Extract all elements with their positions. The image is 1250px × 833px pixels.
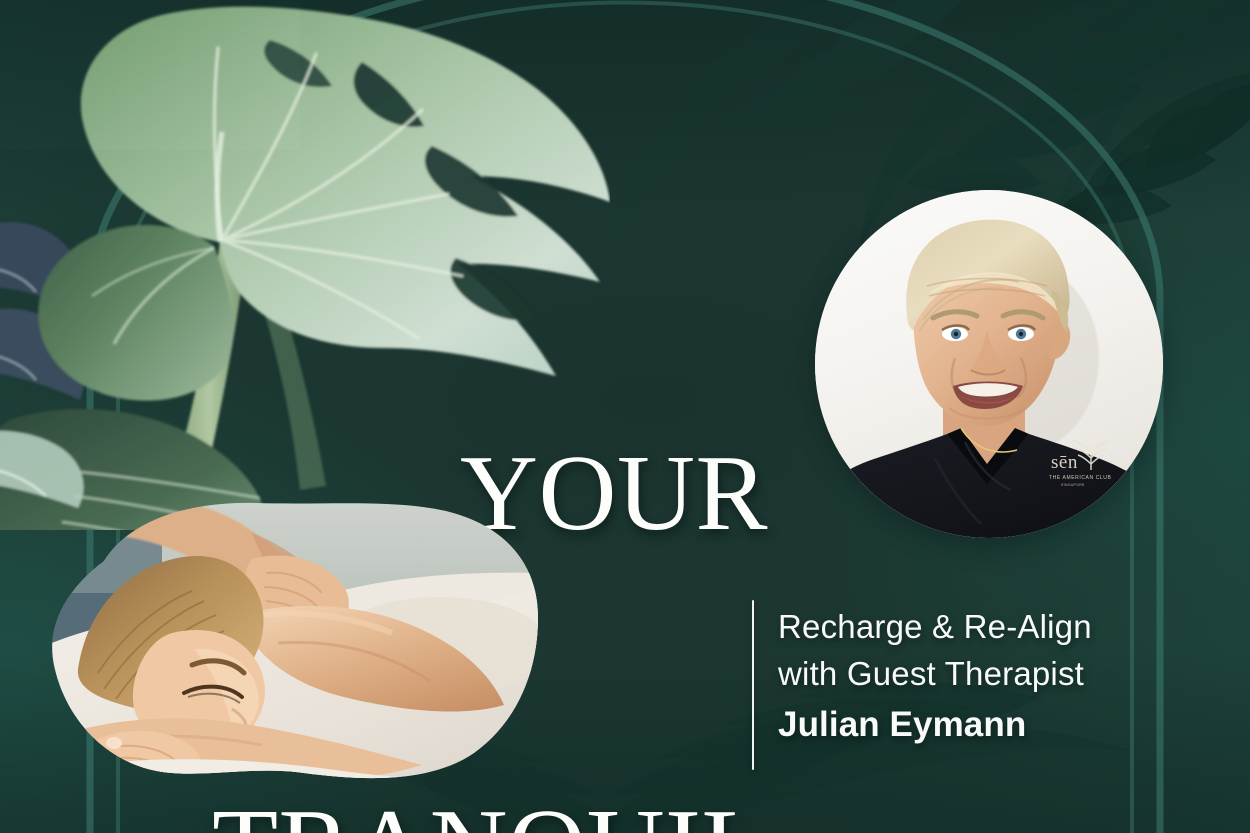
caption-lines: Recharge & Re-Align with Guest Therapist… — [778, 600, 1092, 770]
caption-block: Recharge & Re-Align with Guest Therapist… — [752, 600, 1092, 770]
caption-line-2: with Guest Therapist — [778, 651, 1092, 698]
guest-therapist-portrait: sēn THE AMERICAN CLUB SINGAPORE — [815, 190, 1163, 538]
therapist-name: Julian Eymann — [778, 700, 1092, 750]
svg-text:SINGAPORE: SINGAPORE — [1061, 483, 1085, 487]
caption-line-1: Recharge & Re-Align — [778, 604, 1092, 651]
headline-line-2: TRANQUIL — [120, 789, 768, 833]
massage-photo — [42, 497, 542, 789]
svg-text:sēn: sēn — [1051, 452, 1078, 473]
svg-text:THE AMERICAN CLUB: THE AMERICAN CLUB — [1049, 475, 1111, 481]
caption-divider — [752, 600, 754, 770]
poster-canvas: YOUR TRANQUIL RETREAT — [0, 0, 1250, 833]
